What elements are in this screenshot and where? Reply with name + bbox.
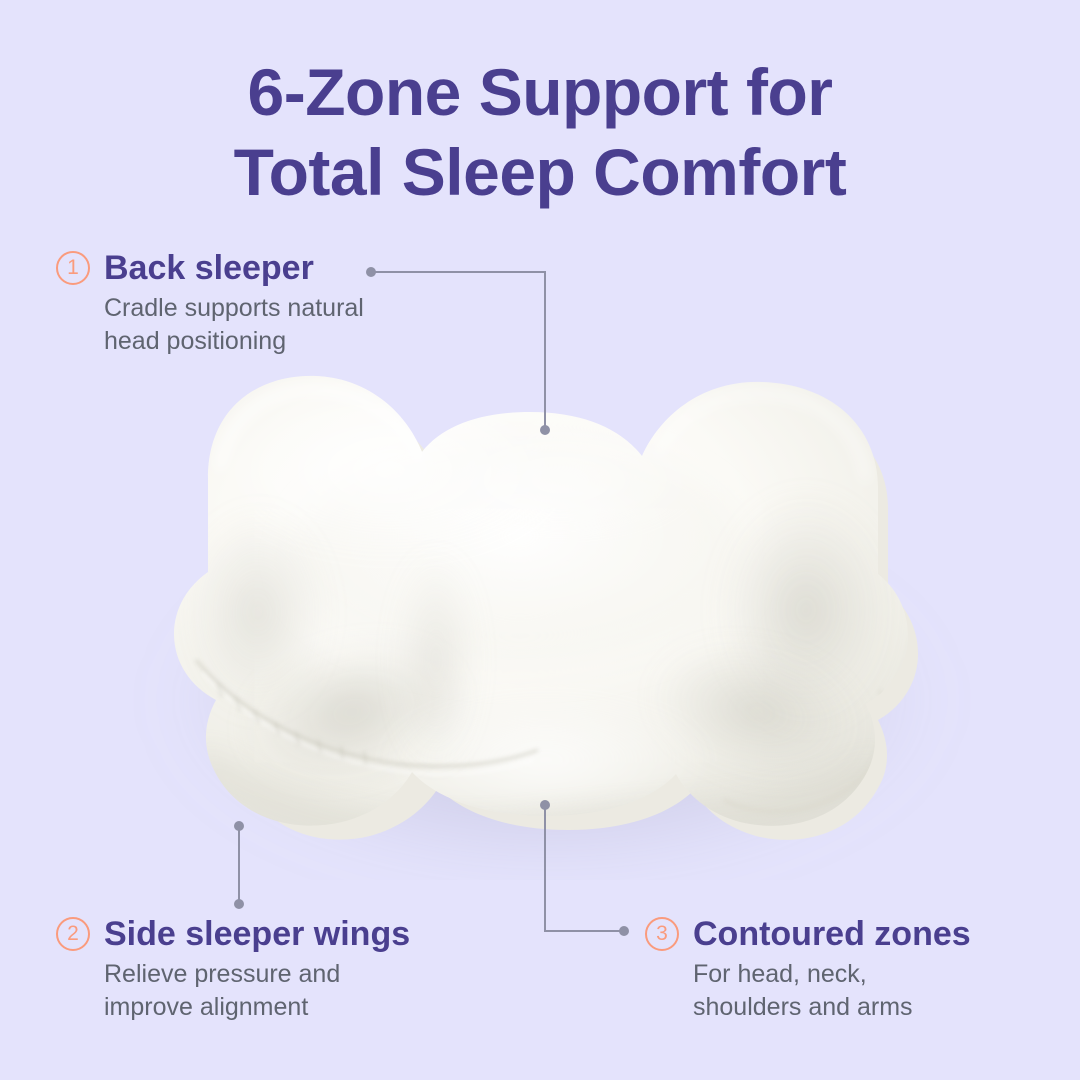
callout-2-title: Side sleeper wings — [104, 914, 410, 954]
pillow-product-image — [90, 360, 990, 880]
callout-2-description: Relieve pressure and improve alignment — [104, 958, 410, 1024]
callout-2-head: 2 Side sleeper wings — [56, 914, 410, 954]
callout-1-description: Cradle supports natural head positioning — [104, 292, 364, 358]
callout-3-number-badge: 3 — [645, 917, 679, 951]
leader-dot-1-start — [366, 267, 376, 277]
callout-contoured-zones: 3 Contoured zones For head, neck, should… — [645, 914, 971, 1024]
shading-center-channel — [396, 550, 476, 770]
callout-2-number-badge: 2 — [56, 917, 90, 951]
pillow-illustration — [90, 360, 990, 880]
page-title: 6-Zone Support for Total Sleep Comfort — [0, 52, 1080, 212]
leader-dot-3-end — [619, 926, 629, 936]
callout-3-title: Contoured zones — [693, 914, 971, 954]
callout-side-sleeper-wings: 2 Side sleeper wings Relieve pressure an… — [56, 914, 410, 1024]
callout-3-description: For head, neck, shoulders and arms — [693, 958, 971, 1024]
callout-1-head: 1 Back sleeper — [56, 248, 364, 288]
leader-dot-2-end — [234, 899, 244, 909]
callout-1-title: Back sleeper — [104, 248, 314, 288]
callout-back-sleeper: 1 Back sleeper Cradle supports natural h… — [56, 248, 364, 358]
callout-1-number-badge: 1 — [56, 251, 90, 285]
callout-3-head: 3 Contoured zones — [645, 914, 971, 954]
infographic-canvas: 6-Zone Support for Total Sleep Comfort — [0, 0, 1080, 1080]
